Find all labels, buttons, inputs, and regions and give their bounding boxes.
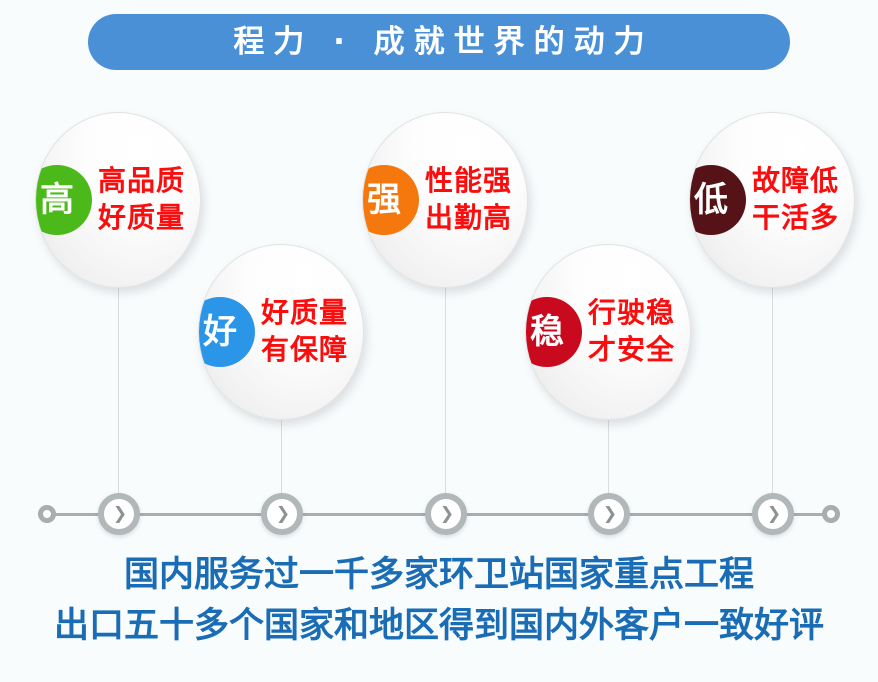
chevron-right-icon: ❯: [276, 506, 290, 523]
feature-bubble-4-inner: 稳 行驶稳 才安全: [526, 245, 690, 419]
badge-label-4: 稳: [530, 315, 564, 349]
feature-text-3: 性能强 出勤高: [425, 163, 512, 237]
chevron-right-icon: ❯: [603, 506, 617, 523]
feature-text-4: 行驶稳 才安全: [588, 295, 675, 369]
feature-bubble-5-inner: 低 故障低 干活多: [690, 113, 854, 287]
feature-text-5: 故障低 干活多: [752, 163, 839, 237]
feature-line-5a: 故障低: [752, 163, 839, 200]
feature-bubble-4[interactable]: 稳 行驶稳 才安全: [525, 244, 691, 420]
feature-bubble-2-inner: 好 好质量 有保障: [199, 245, 363, 419]
feature-bubble-3[interactable]: 强 性能强 出勤高: [362, 112, 528, 288]
badge-icon-5: 低: [690, 165, 746, 235]
feature-line-3a: 性能强: [425, 163, 512, 200]
page-title: 程力 · 成就世界的动力: [224, 27, 653, 58]
timeline-node-1[interactable]: ❯: [98, 493, 140, 535]
chevron-right-icon: ❯: [440, 506, 454, 523]
connector-stem-3: [445, 286, 446, 508]
feature-line-1b: 好质量: [98, 200, 185, 237]
badge-icon-1: 高: [36, 165, 92, 235]
chevron-right-icon: ❯: [113, 506, 127, 523]
badge-label-3: 强: [367, 183, 401, 217]
timeline-node-3[interactable]: ❯: [425, 493, 467, 535]
timeline-node-5[interactable]: ❯: [752, 493, 794, 535]
footer-line-2: 出口五十多个国家和地区得到国内外客户一致好评: [0, 601, 878, 652]
feature-line-5b: 干活多: [752, 200, 839, 237]
feature-line-2a: 好质量: [261, 295, 348, 332]
footer-block: 国内服务过一千多家环卫站国家重点工程 出口五十多个国家和地区得到国内外客户一致好…: [0, 550, 878, 652]
feature-line-4a: 行驶稳: [588, 295, 675, 332]
badge-label-2: 好: [203, 315, 237, 349]
badge-label-1: 高: [40, 183, 74, 217]
feature-line-4b: 才安全: [588, 332, 675, 369]
badge-label-5: 低: [694, 183, 728, 217]
connector-stem-1: [118, 286, 119, 508]
timeline-end-cap-right: [822, 505, 840, 523]
connector-stem-5: [772, 286, 773, 508]
badge-icon-4: 稳: [526, 297, 582, 367]
feature-line-2b: 有保障: [261, 332, 348, 369]
feature-bubble-5[interactable]: 低 故障低 干活多: [689, 112, 855, 288]
feature-bubble-1-inner: 高 高品质 好质量: [36, 113, 200, 287]
feature-line-3b: 出勤高: [425, 200, 512, 237]
header-banner: 程力 · 成就世界的动力: [88, 14, 790, 70]
chevron-right-icon: ❯: [767, 506, 781, 523]
feature-bubble-3-inner: 强 性能强 出勤高: [363, 113, 527, 287]
feature-text-2: 好质量 有保障: [261, 295, 348, 369]
footer-line-1: 国内服务过一千多家环卫站国家重点工程: [0, 550, 878, 601]
badge-icon-3: 强: [363, 165, 419, 235]
timeline-node-2[interactable]: ❯: [261, 493, 303, 535]
feature-bubble-2[interactable]: 好 好质量 有保障: [198, 244, 364, 420]
feature-bubble-1[interactable]: 高 高品质 好质量: [35, 112, 201, 288]
badge-icon-2: 好: [199, 297, 255, 367]
timeline-end-cap-left: [38, 505, 56, 523]
infographic-canvas: 程力 · 成就世界的动力 高 高品质 好质量 好 好质量 有保障: [0, 0, 878, 682]
feature-line-1a: 高品质: [98, 163, 185, 200]
timeline-node-4[interactable]: ❯: [588, 493, 630, 535]
feature-text-1: 高品质 好质量: [98, 163, 185, 237]
